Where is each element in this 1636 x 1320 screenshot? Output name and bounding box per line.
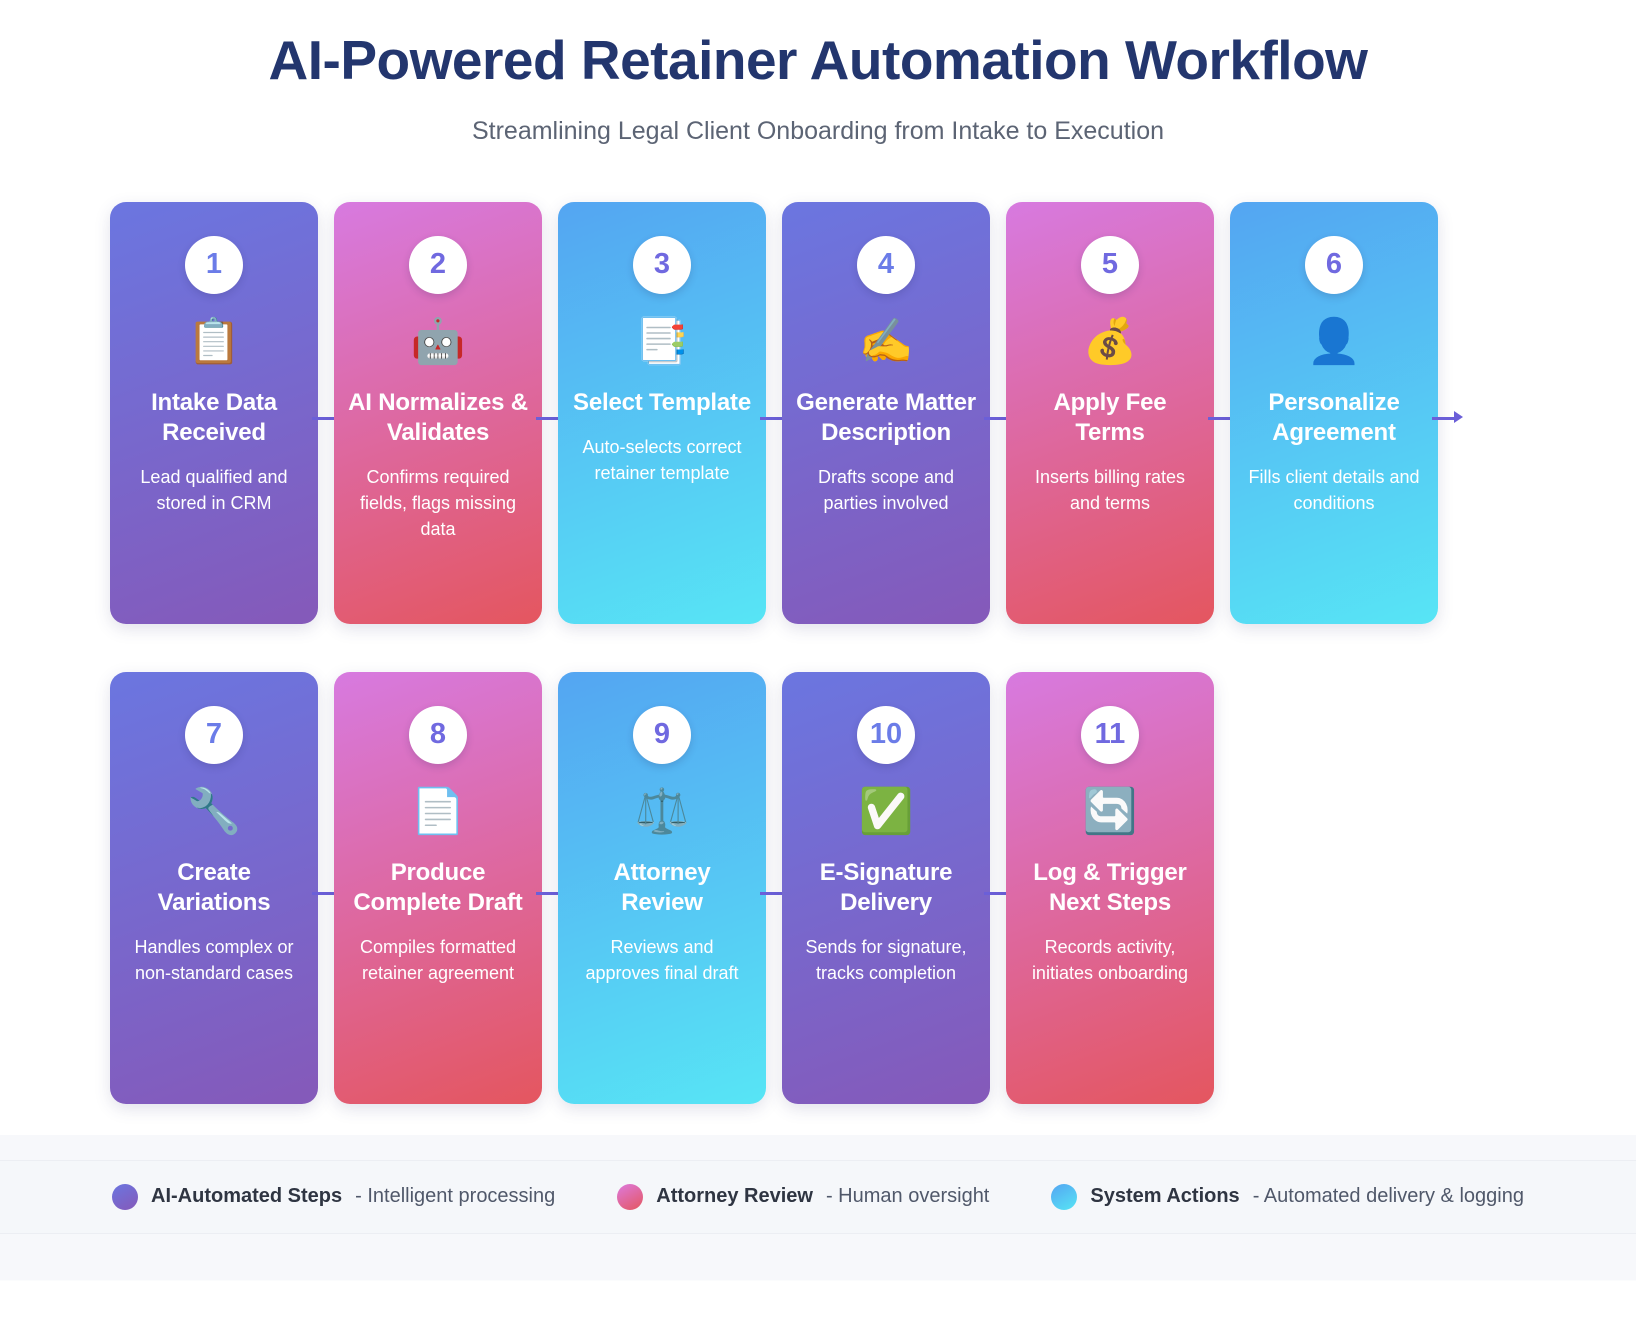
step-number-badge: 8	[409, 706, 467, 764]
step-title: Produce Complete Draft	[348, 858, 528, 918]
step-number-badge: 4	[857, 236, 915, 294]
header: AI-Powered Retainer Automation Workflow …	[0, 0, 1636, 146]
step-card-1[interactable]: 1📋Intake Data ReceivedLead qualified and…	[110, 202, 318, 624]
refresh-cycle-icon: 🔄	[1083, 786, 1138, 838]
arrow-connector-icon	[542, 672, 558, 1104]
balance-scale-icon: ⚖️	[635, 786, 690, 838]
workflow-container: 1📋Intake Data ReceivedLead qualified and…	[0, 202, 1636, 1104]
step-number-badge: 2	[409, 236, 467, 294]
robot-icon: 🤖	[411, 316, 466, 368]
step-card-4[interactable]: 4✍️Generate Matter DescriptionDrafts sco…	[782, 202, 990, 624]
writing-hand-icon: ✍️	[859, 316, 914, 368]
step-card-9[interactable]: 9⚖️Attorney ReviewReviews and approves f…	[558, 672, 766, 1104]
step-title: Select Template	[573, 388, 751, 418]
arrow-connector-icon	[766, 202, 782, 624]
step-description: Lead qualified and stored in CRM	[124, 464, 304, 516]
legend-label: Attorney Review	[656, 1185, 813, 1208]
step-number-badge: 5	[1081, 236, 1139, 294]
arrow-connector-icon	[990, 202, 1006, 624]
step-title: Personalize Agreement	[1244, 388, 1424, 448]
arrow-connector-icon	[766, 672, 782, 1104]
step-description: Sends for signature, tracks completion	[796, 934, 976, 986]
step-title: Apply Fee Terms	[1020, 388, 1200, 448]
step-number-badge: 10	[857, 706, 915, 764]
step-card-2[interactable]: 2🤖AI Normalizes & ValidatesConfirms requ…	[334, 202, 542, 624]
step-description: Handles complex or non-standard cases	[124, 934, 304, 986]
step-description: Drafts scope and parties involved	[796, 464, 976, 516]
legend-description: - Human oversight	[826, 1185, 989, 1208]
legend-description: - Intelligent processing	[355, 1185, 555, 1208]
arrow-connector-icon	[990, 672, 1006, 1104]
step-description: Auto-selects correct retainer template	[572, 434, 752, 486]
step-description: Inserts billing rates and terms	[1020, 464, 1200, 516]
step-description: Fills client details and conditions	[1244, 464, 1424, 516]
arrow-connector-icon	[542, 202, 558, 624]
step-description: Compiles formatted retainer agreement	[348, 934, 528, 986]
legend-color-dot	[1051, 1184, 1077, 1210]
legend: AI-Automated Steps - Intelligent process…	[0, 1160, 1636, 1234]
legend-item: Attorney Review - Human oversight	[617, 1184, 989, 1210]
legend-item: AI-Automated Steps - Intelligent process…	[112, 1184, 555, 1210]
step-card-11[interactable]: 11🔄Log & Trigger Next StepsRecords activ…	[1006, 672, 1214, 1104]
step-number-badge: 11	[1081, 706, 1139, 764]
arrow-connector-icon	[318, 672, 334, 1104]
arrow-connector-icon	[1214, 202, 1230, 624]
pages-icon: 📑	[635, 316, 690, 368]
step-title: Intake Data Received	[124, 388, 304, 448]
step-number-badge: 9	[633, 706, 691, 764]
step-card-7[interactable]: 7🔧Create VariationsHandles complex or no…	[110, 672, 318, 1104]
step-number-badge: 1	[185, 236, 243, 294]
step-title: AI Normalizes & Validates	[348, 388, 528, 448]
legend-color-dot	[112, 1184, 138, 1210]
step-description: Reviews and approves final draft	[572, 934, 752, 986]
legend-item: System Actions - Automated delivery & lo…	[1051, 1184, 1524, 1210]
step-number-badge: 3	[633, 236, 691, 294]
person-silhouette-icon: 👤	[1307, 316, 1362, 368]
step-number-badge: 6	[1305, 236, 1363, 294]
step-card-8[interactable]: 8📄Produce Complete DraftCompiles formatt…	[334, 672, 542, 1104]
step-description: Records activity, initiates onboarding	[1020, 934, 1200, 986]
step-card-5[interactable]: 5💰Apply Fee TermsInserts billing rates a…	[1006, 202, 1214, 624]
arrow-connector-icon	[318, 202, 334, 624]
step-card-10[interactable]: 10✅E-Signature DeliverySends for signatu…	[782, 672, 990, 1104]
page-with-curl-icon: 📄	[411, 786, 466, 838]
page-title: AI-Powered Retainer Automation Workflow	[0, 30, 1636, 91]
step-description: Confirms required fields, flags missing …	[348, 464, 528, 542]
clipboard-icon: 📋	[187, 316, 242, 368]
workflow-row: 1📋Intake Data ReceivedLead qualified and…	[110, 202, 1526, 624]
green-check-icon: ✅	[859, 786, 914, 838]
infographic-page: AI-Powered Retainer Automation Workflow …	[0, 0, 1636, 1320]
legend-label: AI-Automated Steps	[151, 1185, 342, 1208]
arrow-connector-icon	[1438, 202, 1454, 624]
step-title: Create Variations	[124, 858, 304, 918]
step-title: Generate Matter Description	[796, 388, 976, 448]
step-title: Log & Trigger Next Steps	[1020, 858, 1200, 918]
step-card-6[interactable]: 6👤Personalize AgreementFills client deta…	[1230, 202, 1438, 624]
money-bag-icon: 💰	[1083, 316, 1138, 368]
page-subtitle: Streamlining Legal Client Onboarding fro…	[0, 117, 1636, 146]
legend-label: System Actions	[1090, 1185, 1239, 1208]
step-number-badge: 7	[185, 706, 243, 764]
workflow-row: 7🔧Create VariationsHandles complex or no…	[110, 672, 1526, 1104]
wrench-icon: 🔧	[187, 786, 242, 838]
step-title: E-Signature Delivery	[796, 858, 976, 918]
legend-color-dot	[617, 1184, 643, 1210]
step-title: Attorney Review	[572, 858, 752, 918]
legend-description: - Automated delivery & logging	[1253, 1185, 1524, 1208]
step-card-3[interactable]: 3📑Select TemplateAuto-selects correct re…	[558, 202, 766, 624]
